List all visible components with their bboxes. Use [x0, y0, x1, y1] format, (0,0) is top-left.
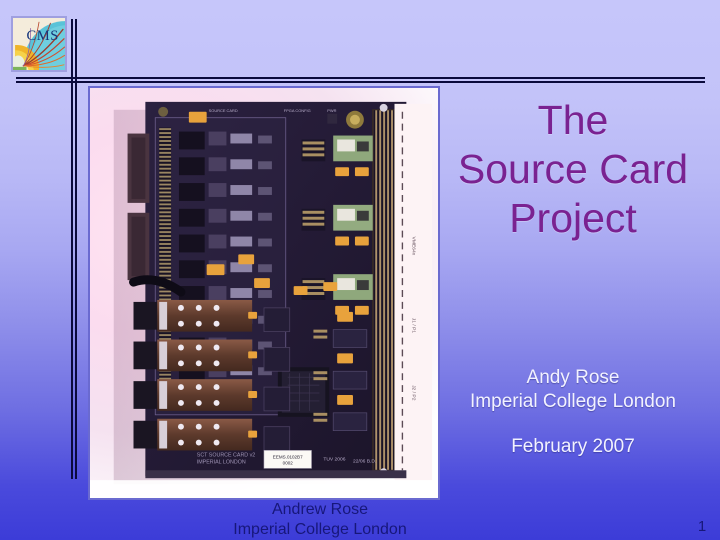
svg-text:J1 / P1: J1 / P1 [410, 318, 416, 334]
svg-text:CMS: CMS [27, 28, 59, 44]
slide-footer: Andrew Rose Imperial College London [180, 500, 460, 540]
pcb-image: VME64x J1 / P1 J2 / P2 SOURCE CARD FPGA … [90, 88, 438, 498]
cms-logo-graphic: CMS [13, 18, 65, 70]
author-affiliation: Imperial College London [430, 390, 716, 414]
title-line-1: The [430, 96, 716, 145]
vertical-divider-rule [71, 19, 79, 479]
svg-text:22/06 B.D.: 22/06 B.D. [353, 458, 376, 464]
svg-text:PWR: PWR [327, 108, 336, 113]
subtitle-spacer [430, 414, 716, 435]
svg-text:SCT SOURCE CARD v2: SCT SOURCE CARD v2 [197, 452, 256, 458]
slide-page-number: 1 [690, 518, 714, 535]
svg-text:EEMS.0102B7: EEMS.0102B7 [273, 454, 303, 459]
author-name: Andy Rose [430, 366, 716, 390]
title-line-3: Project [430, 194, 716, 243]
title-line-2: Source Card [430, 145, 716, 194]
svg-text:VME64x: VME64x [410, 237, 416, 256]
footer-name: Andrew Rose [180, 500, 460, 520]
svg-text:TUV 2006: TUV 2006 [323, 456, 345, 462]
presentation-date: February 2007 [430, 435, 716, 459]
slide-subtitle: Andy Rose Imperial College London Februa… [430, 366, 716, 459]
source-card-photo-frame: VME64x J1 / P1 J2 / P2 SOURCE CARD FPGA … [88, 86, 440, 500]
svg-text:SOURCE CARD: SOURCE CARD [209, 108, 238, 113]
cms-logo: CMS [11, 16, 67, 72]
horizontal-divider-rule [16, 77, 705, 85]
svg-text:J2 / P2: J2 / P2 [410, 385, 416, 401]
footer-affiliation: Imperial College London [180, 520, 460, 540]
slide-title: The Source Card Project [430, 96, 716, 243]
svg-text:IMPERIAL LONDON: IMPERIAL LONDON [197, 459, 246, 465]
pcb-graphic: VME64x J1 / P1 J2 / P2 SOURCE CARD FPGA … [90, 88, 438, 498]
svg-text:FPGA CONFIG: FPGA CONFIG [284, 108, 311, 113]
slide-canvas: CMS [0, 0, 720, 540]
svg-text:0002: 0002 [283, 460, 294, 465]
